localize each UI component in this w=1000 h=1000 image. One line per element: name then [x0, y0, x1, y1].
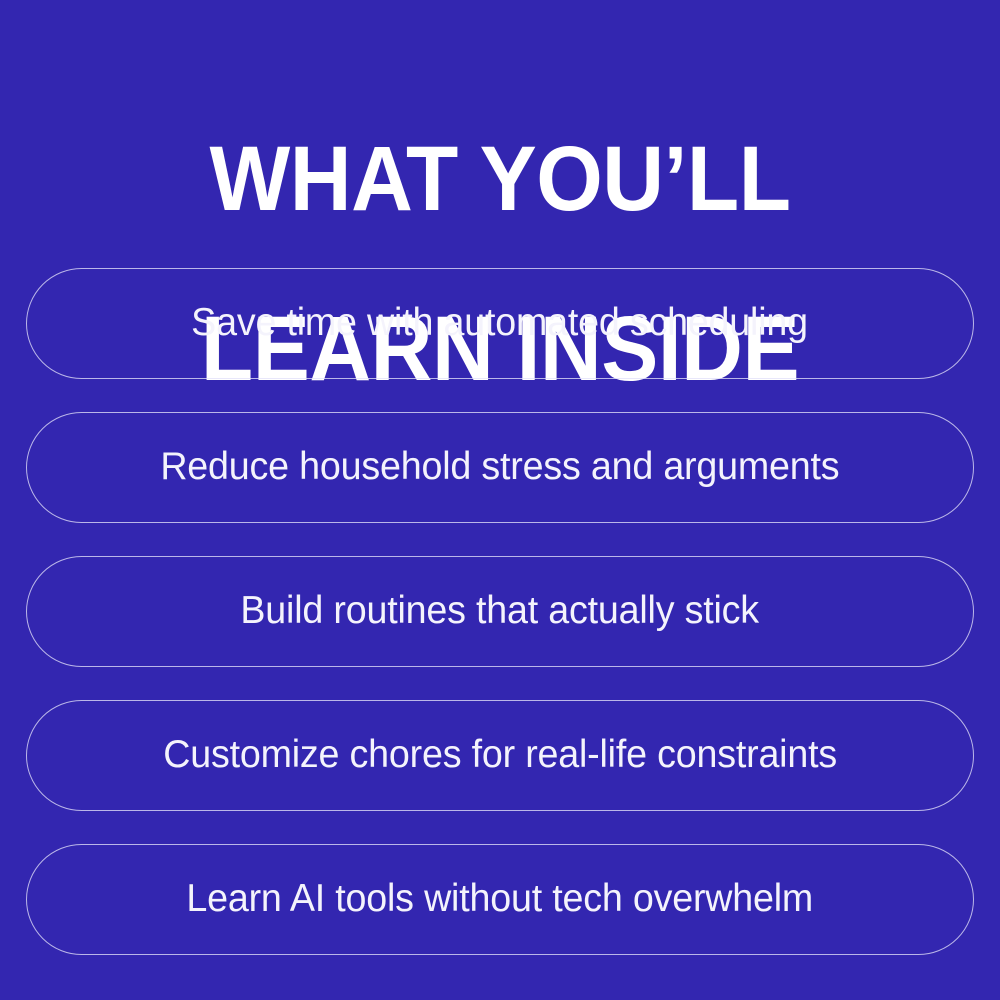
benefit-pill-5[interactable]: Learn AI tools without tech overwhelm — [26, 844, 974, 955]
page-title-line-1: WHAT YOU’LL — [72, 137, 928, 222]
benefit-pill-2[interactable]: Reduce household stress and arguments — [26, 412, 974, 523]
benefit-pill-4[interactable]: Customize chores for real-life constrain… — [26, 700, 974, 811]
benefit-pill-label: Learn AI tools without tech overwhelm — [187, 878, 814, 921]
benefit-pill-label: Reduce household stress and arguments — [160, 446, 839, 489]
benefits-list: Save time with automated scheduling Redu… — [26, 268, 974, 955]
benefit-pill-label: Save time with automated scheduling — [192, 302, 809, 345]
benefit-pill-label: Customize chores for real-life constrain… — [163, 734, 837, 777]
slide-canvas: WHAT YOU’LL LEARN INSIDE Save time with … — [0, 0, 1000, 1000]
benefit-pill-label: Build routines that actually stick — [241, 590, 759, 633]
benefit-pill-1[interactable]: Save time with automated scheduling — [26, 268, 974, 379]
benefit-pill-3[interactable]: Build routines that actually stick — [26, 556, 974, 667]
